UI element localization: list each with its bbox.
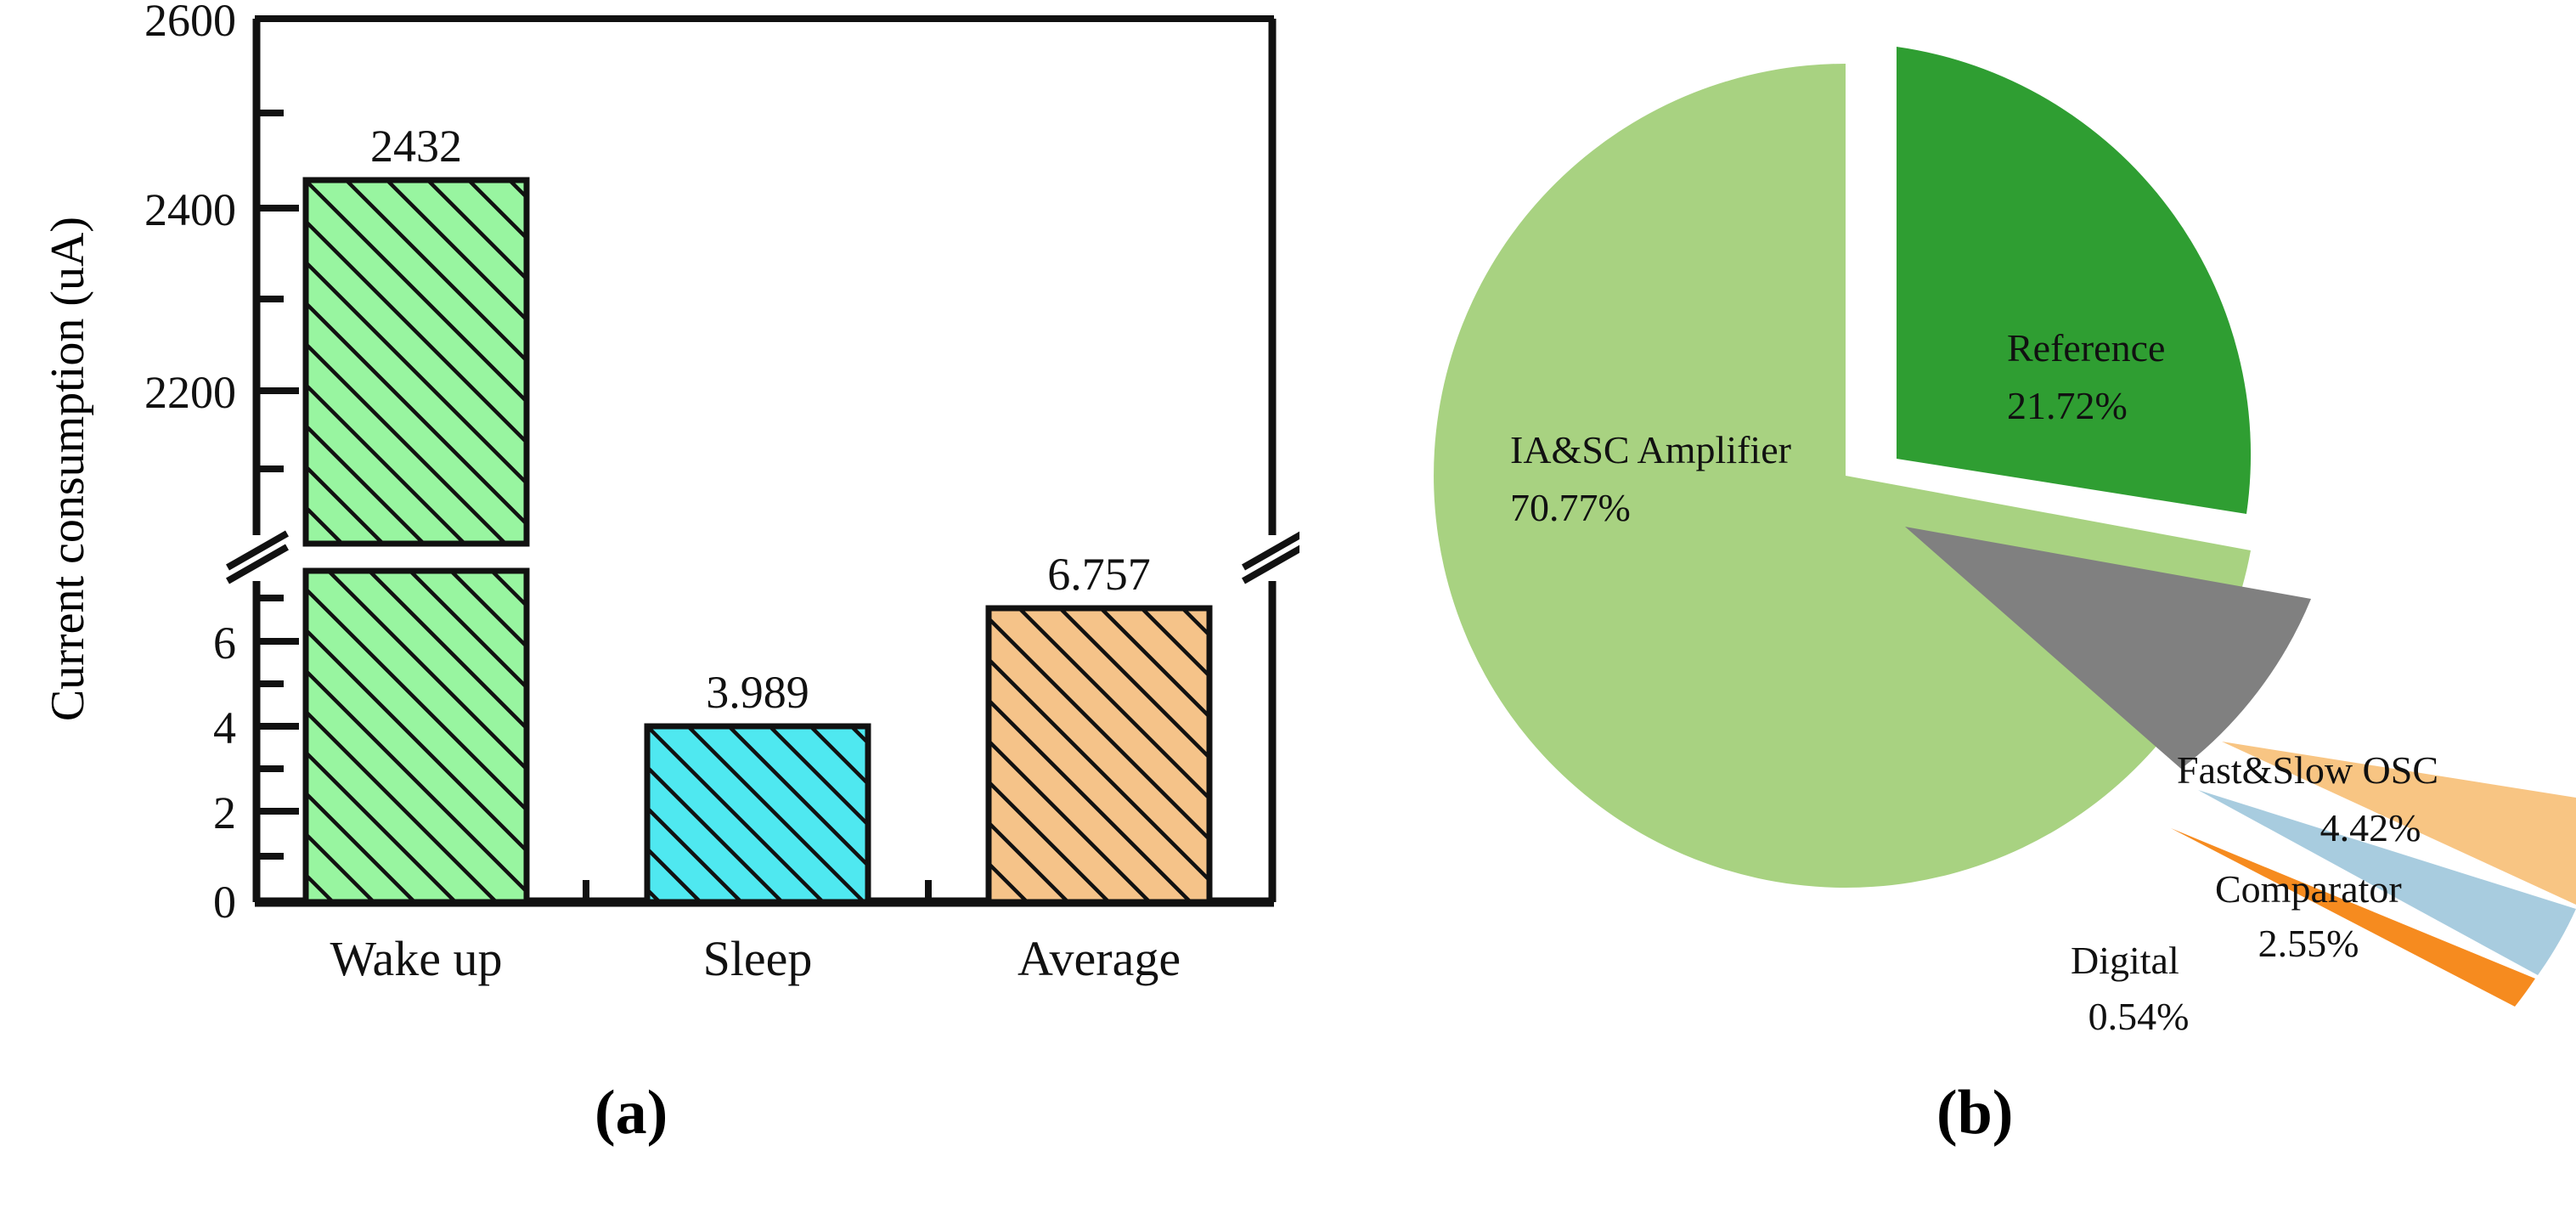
pie-label-reference-pct: 21.72%	[2007, 384, 2128, 427]
y-ticks-lower	[256, 598, 299, 856]
caption-a: (a)	[595, 1077, 668, 1149]
bar-value-average: 6.757	[1047, 549, 1151, 600]
y-tick-label-2: 2	[213, 787, 236, 838]
pie-label-reference-name: Reference	[2007, 326, 2165, 370]
pie-label-fast-slow-osc-name: Fast&Slow OSC	[2177, 748, 2438, 792]
caption-b: (b)	[1936, 1077, 2013, 1149]
y-tick-label-4: 4	[213, 702, 236, 753]
pie-label-ia-sc-amplifier-pct: 70.77%	[1510, 486, 1631, 529]
y-tick-label-0: 0	[213, 877, 236, 928]
pie-chart-panel-b: IA&SC Amplifier 70.77% Reference 21.72% …	[1302, 0, 2576, 1053]
bar-chart-panel-a: 2600 2400 2200 6 4 2 0 2432 3.989 6.757 …	[0, 0, 1299, 1053]
bar-average	[989, 608, 1209, 902]
pie-label-comparator-pct: 2.55%	[2258, 922, 2359, 965]
y-tick-label-2400: 2400	[144, 184, 236, 235]
bar-value-wake-up: 2432	[370, 121, 462, 172]
y-tick-label-2200: 2200	[144, 367, 236, 418]
pie-label-digital-name: Digital	[2071, 939, 2179, 982]
axis-break-left	[228, 533, 287, 581]
figure-container: 2600 2400 2200 6 4 2 0 2432 3.989 6.757 …	[0, 0, 2576, 1213]
pie-slice-reference	[1897, 47, 2251, 514]
x-category-wake-up: Wake up	[330, 931, 502, 986]
x-category-average: Average	[1017, 931, 1181, 986]
pie-label-fast-slow-osc-pct: 4.42%	[2320, 806, 2421, 849]
bar-wake-up-upper	[306, 180, 527, 544]
bar-value-sleep: 3.989	[706, 667, 809, 718]
bar-wake-up-lower	[306, 571, 527, 902]
axis-break-right	[1243, 533, 1299, 581]
y-ticks-upper	[256, 19, 299, 469]
bar-sleep	[647, 726, 868, 902]
y-tick-label-6: 6	[213, 618, 236, 669]
pie-label-digital-pct: 0.54%	[2088, 995, 2190, 1038]
pie-label-digital: Digital 0.54%	[2071, 939, 2189, 1038]
y-axis-label: Current consumption (uA)	[41, 146, 95, 792]
pie-label-comparator-name: Comparator	[2215, 867, 2402, 911]
pie-label-ia-sc-amplifier-name: IA&SC Amplifier	[1510, 428, 1791, 471]
x-category-sleep: Sleep	[703, 931, 813, 986]
y-tick-label-2600: 2600	[144, 0, 236, 46]
